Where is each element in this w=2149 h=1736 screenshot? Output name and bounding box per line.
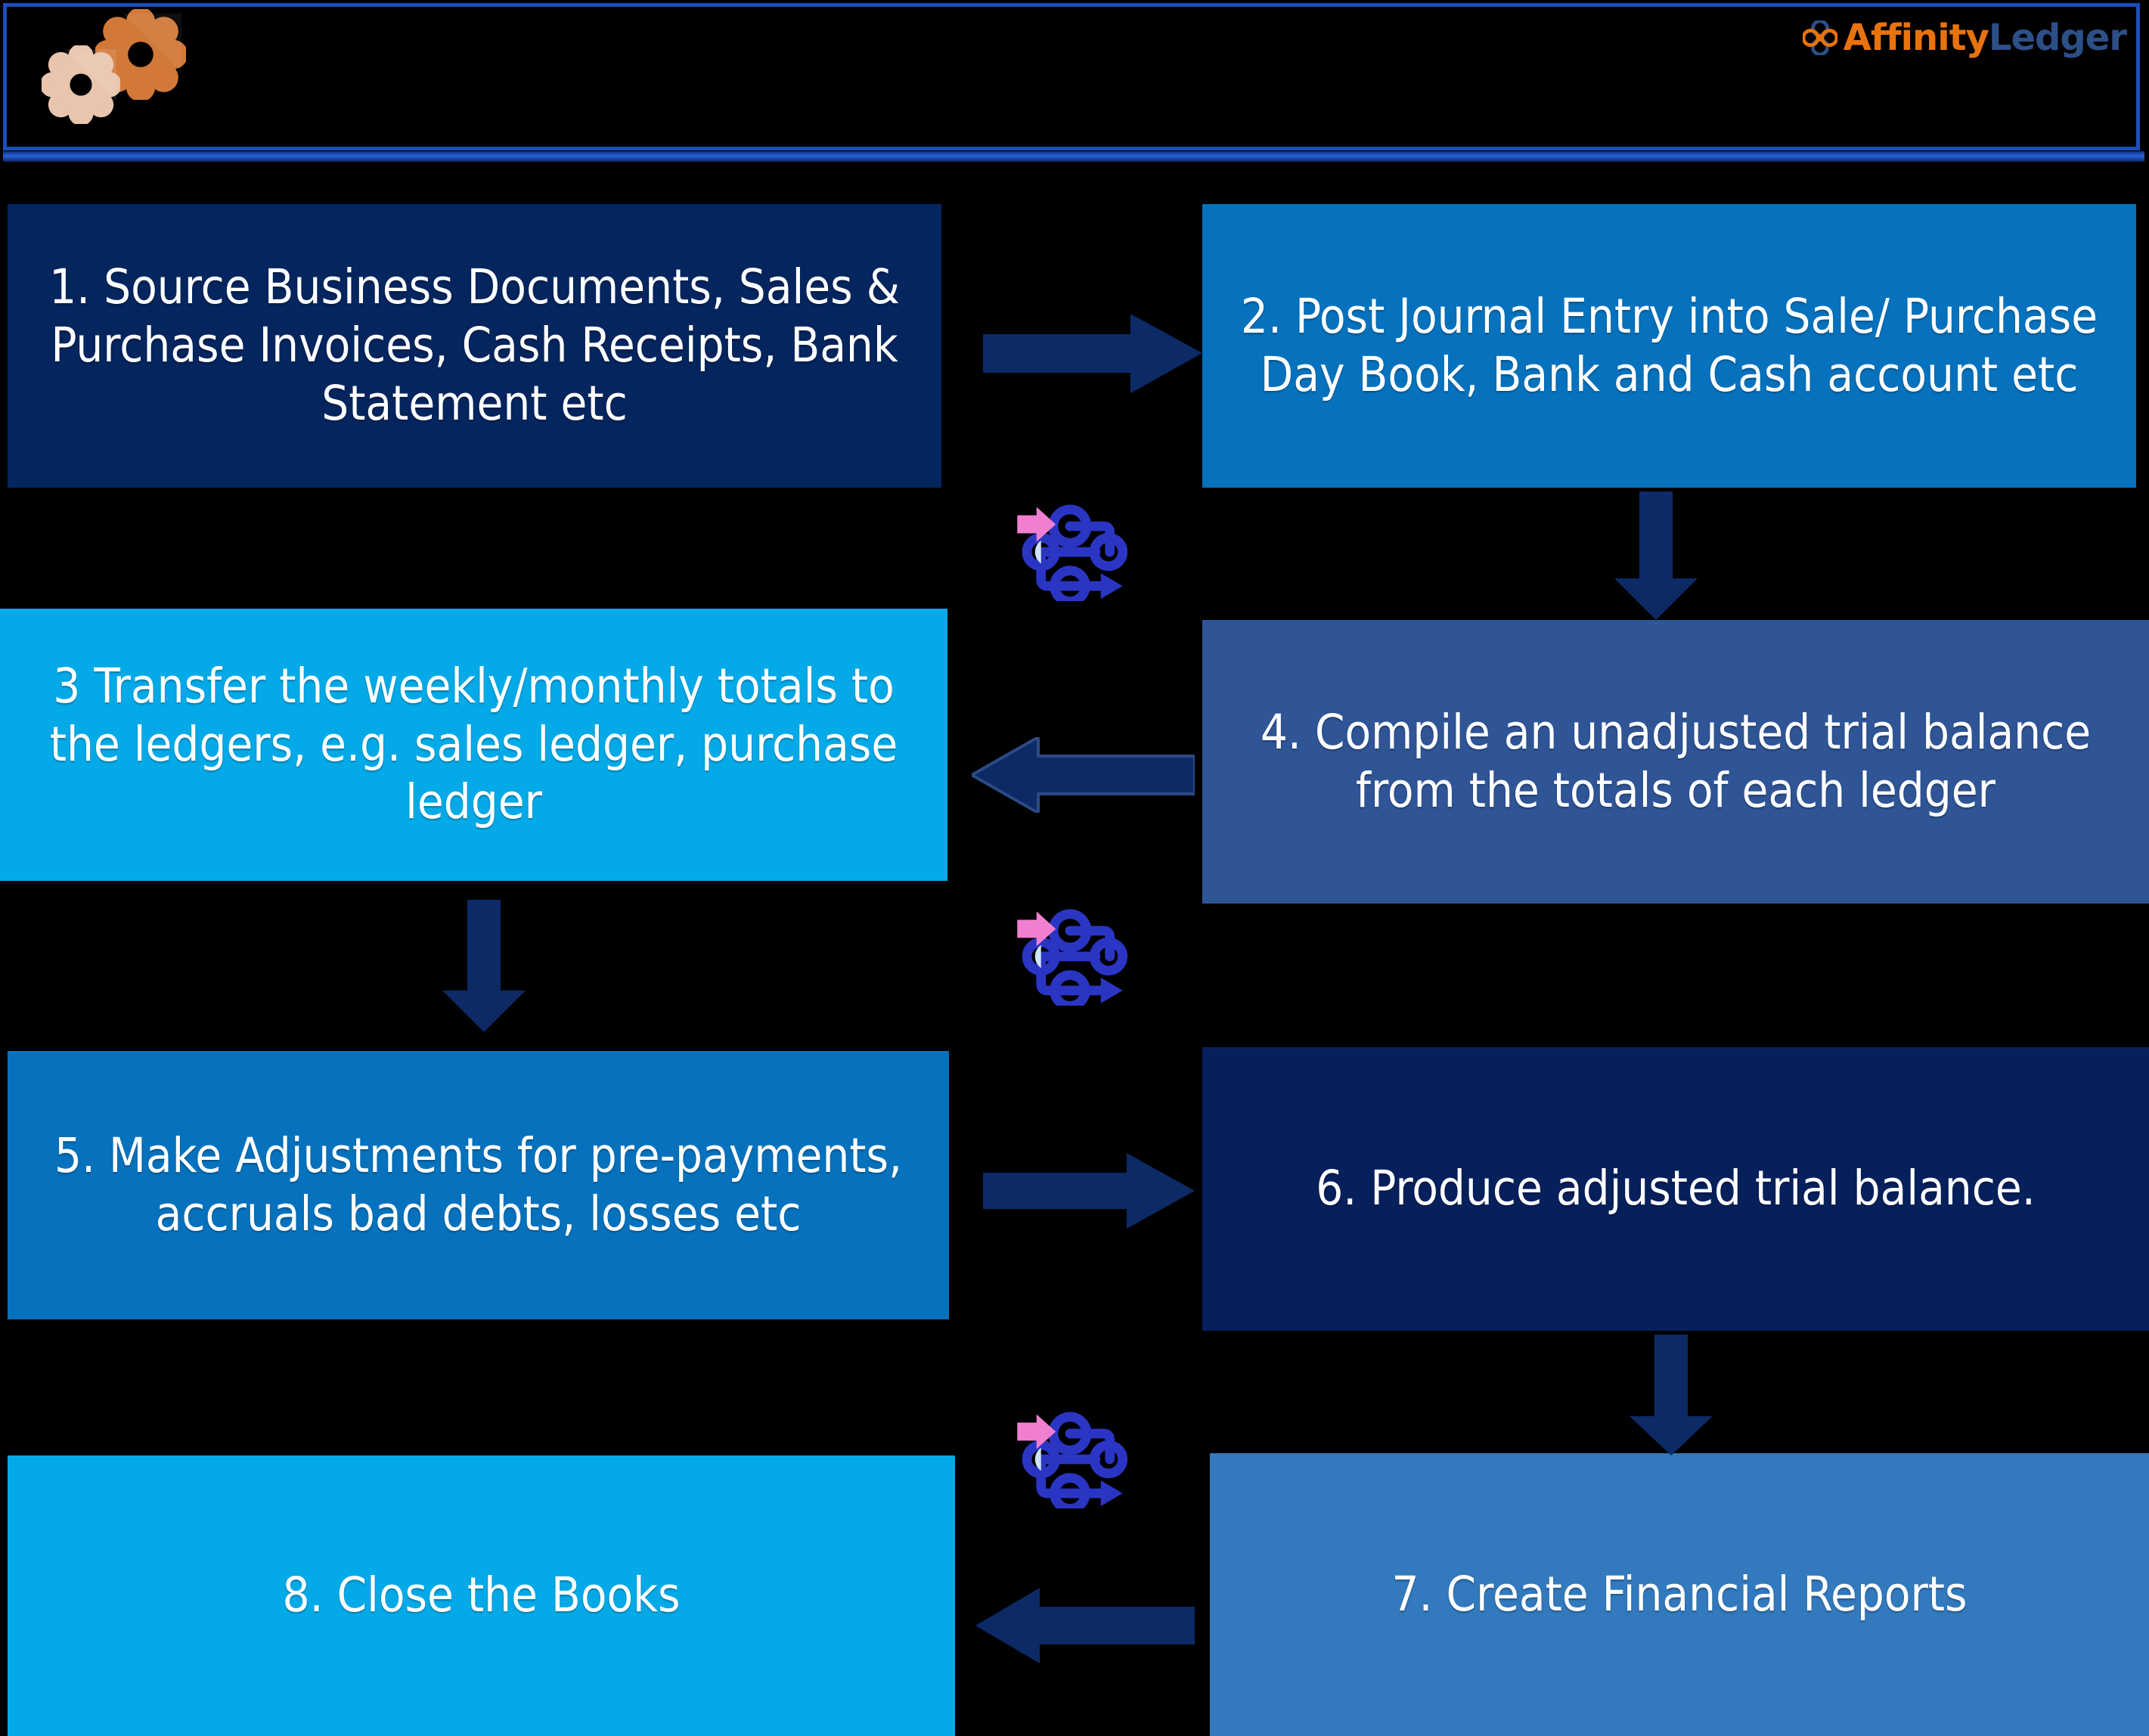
process-box-step-2[interactable]: 2. Post Journal Entry into Sale/ Purchas… [1202,204,2136,488]
header-band: AffinityLedger [0,0,2149,163]
arrow-step4-to-step3 [972,737,1195,813]
process-box-step-6[interactable]: 6. Produce adjusted trial balance. [1202,1047,2149,1331]
process-box-step-3[interactable]: 3 Transfer the weekly/monthly totals to … [0,609,947,881]
process-box-label: 5. Make Adjustments for pre-payments, ac… [33,1127,923,1244]
gear-flower-peach-icon [42,45,120,124]
process-box-step-1[interactable]: 1. Source Business Documents, Sales & Pu… [8,204,941,488]
arrow-step2-to-step4 [1614,491,1698,620]
arrow-step6-to-step7 [1630,1335,1713,1455]
process-box-label: 6. Produce adjusted trial balance. [1316,1160,2036,1218]
process-box-label: 3 Transfer the weekly/monthly totals to … [26,658,922,832]
brand-logo: AffinityLedger [1803,14,2126,62]
arrow-step3-to-step5 [442,900,526,1032]
clover-logo-icon [1803,20,1837,55]
process-box-label: 4. Compile an unadjusted trial balance f… [1228,704,2123,820]
process-box-label: 2. Post Journal Entry into Sale/ Purchas… [1228,288,2110,405]
process-box-label: 7. Create Financial Reports [1391,1566,1967,1624]
header-bottom-rule [3,151,2144,162]
arrow-step5-to-step6 [983,1153,1195,1229]
process-box-label: 8. Close the Books [282,1567,680,1625]
process-box-step-5[interactable]: 5. Make Adjustments for pre-payments, ac… [8,1051,949,1319]
process-flow-icon-2 [1006,907,1134,1006]
process-box-step-8[interactable]: 8. Close the Books [8,1455,955,1736]
arrow-step7-to-step8 [975,1588,1195,1663]
brand-name-secondary: Ledger [1989,17,2126,59]
process-flow-icon-1 [1006,503,1134,601]
process-box-label: 1. Source Business Documents, Sales & Pu… [33,259,916,433]
brand-name-primary: Affinity [1844,17,1989,59]
brand-wordmark: AffinityLedger [1844,20,2126,56]
process-flow-icon-3 [1006,1410,1134,1508]
process-box-step-4[interactable]: 4. Compile an unadjusted trial balance f… [1202,620,2149,904]
arrow-step1-to-step2 [983,314,1202,393]
process-box-step-7[interactable]: 7. Create Financial Reports [1210,1453,2149,1736]
